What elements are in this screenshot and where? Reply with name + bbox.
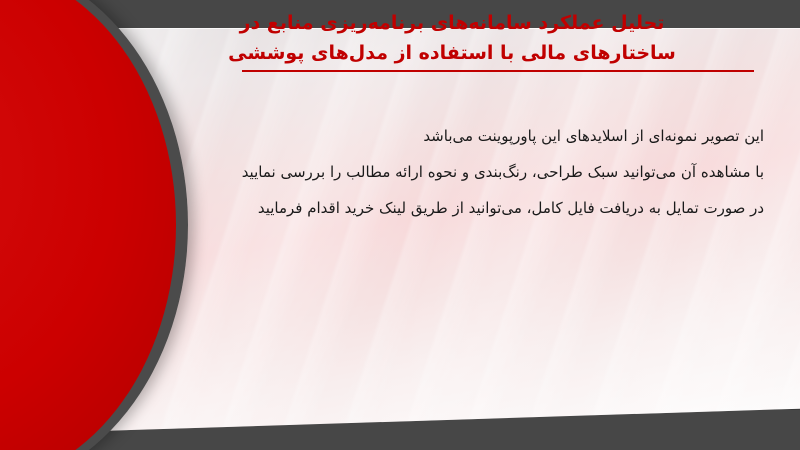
slide-canvas: تحلیل عملکرد سامانه‌های برنامه‌ریزی مناب…: [0, 0, 800, 450]
slide-body-text: این تصویر نمونه‌ای از اسلایدهای این پاور…: [124, 118, 764, 226]
slide-title: تحلیل عملکرد سامانه‌های برنامه‌ریزی مناب…: [122, 8, 782, 72]
body-line-1: این تصویر نمونه‌ای از اسلایدهای این پاور…: [124, 118, 764, 154]
body-line-2: با مشاهده آن می‌توانید سبک طراحی، رنگ‌بن…: [124, 154, 764, 190]
body-line-3: در صورت تمایل به دریافت فایل کامل، می‌تو…: [124, 190, 764, 226]
title-line-1: تحلیل عملکرد سامانه‌های برنامه‌ریزی مناب…: [122, 8, 782, 38]
title-underline-rule: [242, 70, 754, 72]
title-line-2: ساختارهای مالی با استفاده از مدل‌های پوش…: [122, 38, 782, 68]
